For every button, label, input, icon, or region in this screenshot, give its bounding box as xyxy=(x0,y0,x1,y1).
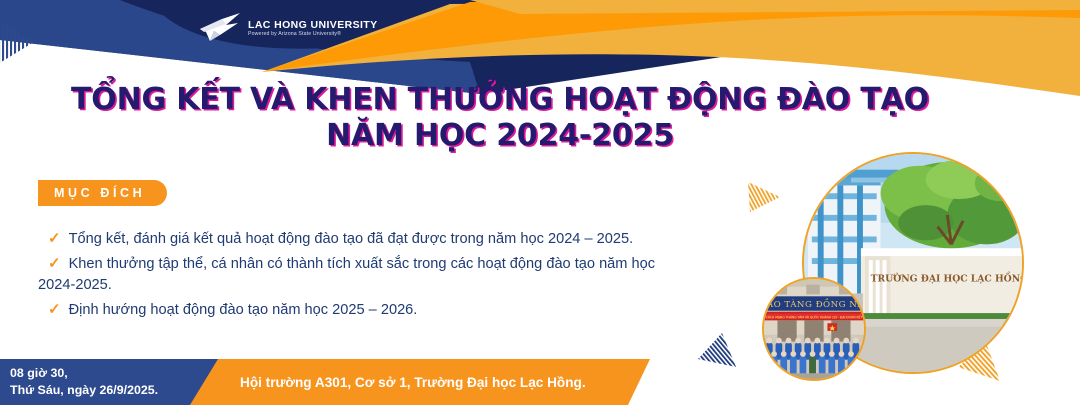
logo-subtitle: Powered by Arizona State University® xyxy=(248,31,378,38)
event-banner: LAC HONG UNIVERSITY Powered by Arizona S… xyxy=(0,0,1080,405)
title-line-2: NĂM HỌC 2024-2025 xyxy=(0,118,1000,154)
check-icon: ✓ xyxy=(48,230,61,247)
footer-bar: Hội trường A301, Cơ sở 1, Trường Đại học… xyxy=(0,359,1080,405)
purpose-badge-label: MỤC ĐÍCH xyxy=(54,186,145,200)
list-item-text: Định hướng hoạt động đào tạo năm học 202… xyxy=(69,302,418,318)
check-icon: ✓ xyxy=(48,255,61,272)
list-item: ✓Định hướng hoạt động đào tạo năm học 20… xyxy=(38,299,683,322)
list-item: ✓Khen thưởng tập thể, cá nhân có thành t… xyxy=(38,253,683,297)
list-item-text: Tổng kết, đánh giá kết quả hoạt động đào… xyxy=(69,231,634,247)
list-item: ✓Tổng kết, đánh giá kết quả hoạt động đà… xyxy=(38,228,683,251)
title-line-1: TỔNG KẾT VÀ KHEN THƯỞNG HOẠT ĐỘNG ĐÀO TẠ… xyxy=(0,82,1000,118)
purpose-section-badge: MỤC ĐÍCH xyxy=(38,180,167,206)
check-icon: ✓ xyxy=(48,301,61,318)
footer-location-text: Hội trường A301, Cơ sở 1, Trường Đại học… xyxy=(240,375,586,390)
airplane-logo-icon xyxy=(196,11,242,45)
building-sign-text: TRƯỜNG ĐẠI HỌC LẠC HỒNG xyxy=(871,272,1022,285)
footer-location-banner: Hội trường A301, Cơ sở 1, Trường Đại học… xyxy=(150,359,650,405)
logo-university-name: LAC HONG UNIVERSITY xyxy=(248,19,378,31)
page-title: TỔNG KẾT VÀ KHEN THƯỞNG HOẠT ĐỘNG ĐÀO TẠ… xyxy=(0,82,1000,154)
striped-triangle-orange-mid-icon xyxy=(748,180,782,214)
university-logo: LAC HONG UNIVERSITY Powered by Arizona S… xyxy=(196,8,366,48)
purpose-list: ✓Tổng kết, đánh giá kết quả hoạt động đà… xyxy=(38,228,683,323)
striped-triangle-navy-left-icon xyxy=(0,20,38,64)
list-item-text: Khen thưởng tập thể, cá nhân có thành tí… xyxy=(38,256,655,294)
